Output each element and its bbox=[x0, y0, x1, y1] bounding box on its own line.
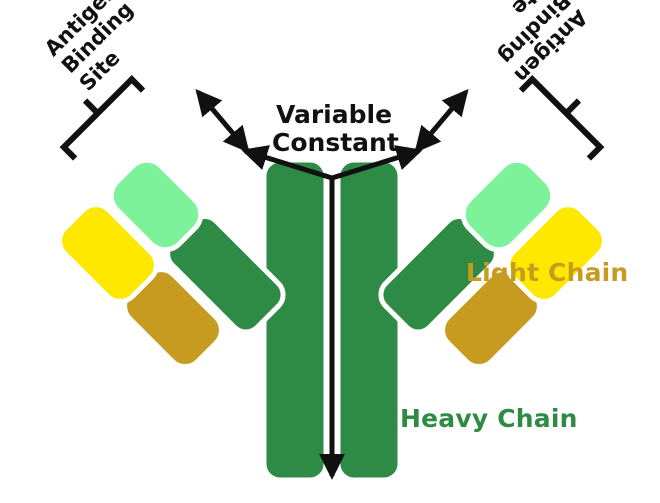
antibody-diagram-canvas: Antigen Binding Site Antigen Binding Sit… bbox=[0, 0, 660, 503]
variable-arrow-right bbox=[417, 92, 466, 150]
antigen-binding-bracket-right bbox=[521, 67, 613, 159]
variable-region-label: Variable bbox=[276, 100, 392, 129]
variable-arrow-left bbox=[198, 92, 247, 150]
constant-heavy-left-stem bbox=[264, 160, 326, 480]
constant-region-label: Constant bbox=[272, 128, 399, 157]
heavy-chain-label: Heavy Chain bbox=[400, 404, 578, 433]
constant-heavy-right-stem bbox=[338, 160, 400, 480]
light-chain-label: Light Chain bbox=[466, 258, 628, 287]
